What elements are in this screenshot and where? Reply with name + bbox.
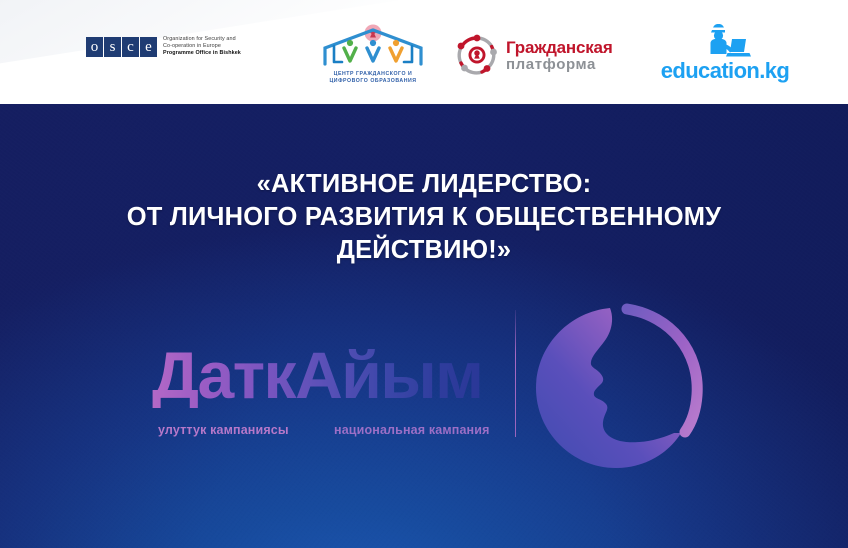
osce-letter-boxes: o s c e	[86, 37, 157, 57]
gp-line1: Гражданская	[506, 39, 613, 56]
osce-letter-c: c	[122, 37, 139, 57]
cde-name-line1: ЦЕНТР ГРАЖДАНСКОГО И	[312, 71, 434, 78]
osce-letter-s: s	[104, 37, 121, 57]
osce-tagline: Organization for Security and Co-operati…	[163, 36, 241, 58]
osce-tagline-line1: Organization for Security and	[163, 36, 241, 43]
page-title: «АКТИВНОЕ ЛИДЕРСТВО: ОТ ЛИЧНОГО РАЗВИТИЯ…	[0, 168, 848, 267]
campaign-wordmark: ДаткАйым	[152, 342, 483, 408]
logo-education-kg: education.kg	[655, 24, 795, 84]
logo-civic-digital-education-center: ЦЕНТР ГРАЖДАНСКОГО И ЦИФРОВОГО ОБРАЗОВАН…	[312, 24, 434, 85]
osce-letter-o: o	[86, 37, 103, 57]
cde-name: ЦЕНТР ГРАЖДАНСКОГО И ЦИФРОВОГО ОБРАЗОВАН…	[312, 71, 434, 85]
page-title-line3: ДЕЙСТВИЮ!»	[0, 234, 848, 267]
main-stage: «АКТИВНОЕ ЛИДЕРСТВО: ОТ ЛИЧНОГО РАЗВИТИЯ…	[0, 104, 848, 548]
campaign-divider	[515, 310, 516, 437]
page-title-line2: ОТ ЛИЧНОГО РАЗВИТИЯ К ОБЩЕСТВЕННОМУ	[0, 201, 848, 234]
cde-name-line2: ЦИФРОВОГО ОБРАЗОВАНИЯ	[312, 78, 434, 85]
osce-letter-e: e	[140, 37, 157, 57]
campaign-logo: ДаткАйым улуттук кампаниясы национальная…	[152, 322, 712, 482]
osce-tagline-line2: Co-operation in Europe	[163, 43, 241, 50]
header-logo-bar: o s c e Organization for Security and Co…	[0, 0, 848, 104]
education-kg-wordmark: education.kg	[655, 58, 795, 84]
gp-line2: платформа	[506, 57, 613, 72]
poster: o s c e Organization for Security and Co…	[0, 0, 848, 548]
logo-osce: o s c e Organization for Security and Co…	[86, 36, 241, 58]
gp-wordmark: Гражданская платформа	[506, 39, 613, 72]
page-title-line1: «АКТИВНОЕ ЛИДЕРСТВО:	[0, 168, 848, 201]
campaign-subtitle-ru: национальная кампания	[334, 423, 490, 437]
campaign-subtitle-kg: улуттук кампаниясы	[158, 423, 289, 437]
logo-grazhdanskaya-platforma: Гражданская платформа	[455, 33, 613, 77]
osce-tagline-line3: Programme Office in Bishkek	[163, 50, 241, 57]
house-people-icon	[312, 24, 434, 70]
civic-network-icon	[455, 33, 499, 77]
woman-profile-circle-icon	[524, 300, 712, 475]
